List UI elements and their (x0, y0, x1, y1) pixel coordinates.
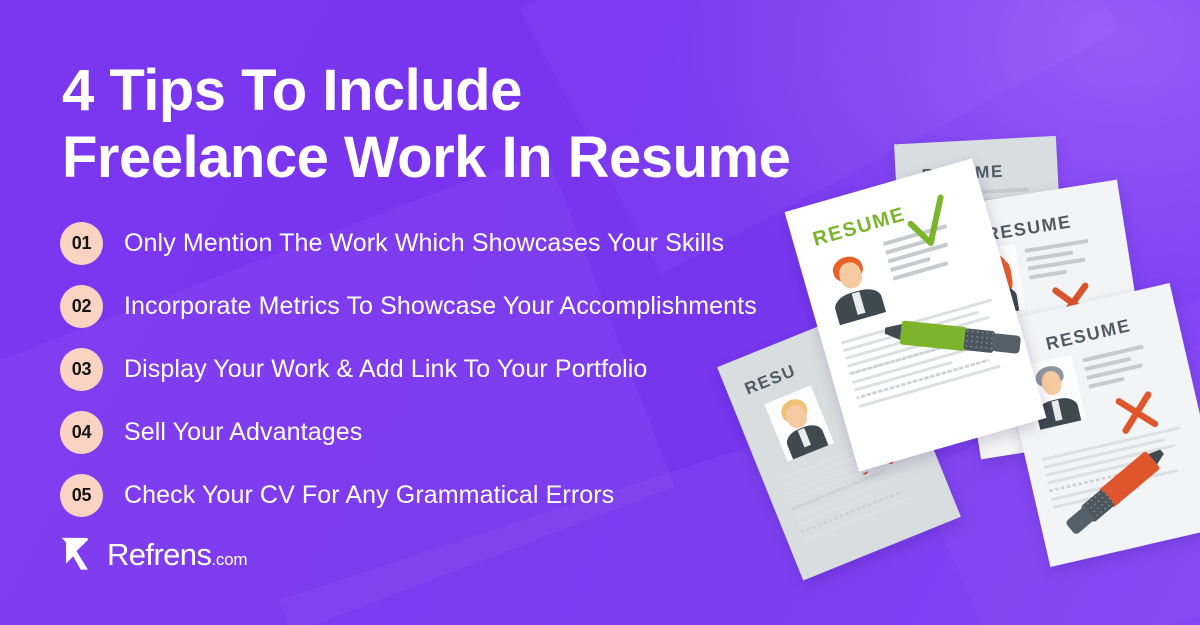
refrens-arrow-logo-icon (58, 535, 96, 573)
infographic-poster: 4 Tips To Include Freelance Work In Resu… (0, 0, 1200, 625)
brand-logo[interactable]: Refrens.com (58, 535, 247, 573)
resume-heading: RESUME (984, 211, 1073, 245)
tip-number-badge: 03 (60, 348, 103, 391)
tip-label: Display Your Work & Add Link To Your Por… (124, 355, 647, 384)
list-item: 05 Check Your CV For Any Grammatical Err… (60, 464, 850, 527)
tip-number-badge: 02 (60, 285, 103, 328)
avatar (817, 246, 890, 327)
tip-number-badge: 05 (60, 474, 103, 517)
avatar (764, 385, 834, 461)
resume-documents-illustration: RESUME (748, 132, 1200, 532)
list-item: 02 Incorporate Metrics To Showcase Your … (60, 275, 850, 338)
tip-label: Sell Your Advantages (124, 418, 362, 447)
tip-number-badge: 04 (60, 411, 103, 454)
brand-tld: .com (211, 551, 247, 568)
list-item: 04 Sell Your Advantages (60, 401, 850, 464)
tip-number-badge: 01 (60, 222, 103, 265)
brand-wordmark: Refrens.com (107, 539, 247, 570)
list-item: 01 Only Mention The Work Which Showcases… (60, 212, 850, 275)
tip-label: Only Mention The Work Which Showcases Yo… (124, 229, 724, 258)
brand-name: Refrens (107, 539, 211, 570)
tip-label: Incorporate Metrics To Showcase Your Acc… (124, 292, 757, 321)
tip-label: Check Your CV For Any Grammatical Errors (124, 481, 614, 510)
resume-sheet-bottom-right: RESUME (994, 283, 1200, 567)
